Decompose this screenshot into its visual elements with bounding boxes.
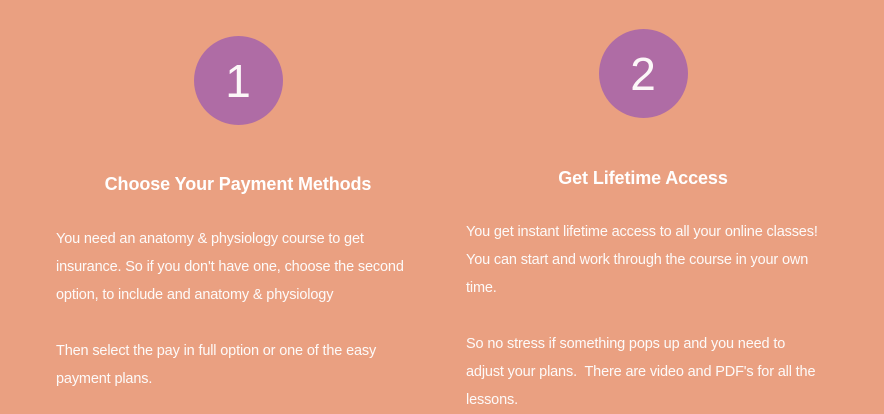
step-1-number-label: 1 (194, 58, 283, 104)
step-2-badge-wrap: 2 (466, 29, 820, 118)
step-1-paragraph-1: You need an anatomy & physiology course … (56, 225, 420, 309)
step-1-badge-wrap: 1 (56, 36, 420, 125)
step-2-heading: Get Lifetime Access (466, 118, 820, 190)
step-1-paragraph-2: Then select the pay in full option or on… (56, 337, 420, 393)
step-1-heading: Choose Your Payment Methods (56, 125, 420, 196)
step-2-paragraph-2: So no stress if something pops up and yo… (466, 330, 820, 414)
step-1-number-badge: 1 (194, 36, 283, 125)
step-2-number-badge: 2 (599, 29, 688, 118)
step-2-paragraph-1: You get instant lifetime access to all y… (466, 218, 820, 302)
steps-section: 1 Choose Your Payment Methods You need a… (0, 0, 884, 414)
step-column-1: 1 Choose Your Payment Methods You need a… (56, 0, 420, 393)
step-1-body: You need an anatomy & physiology course … (56, 196, 420, 393)
step-2-body: You get instant lifetime access to all y… (466, 190, 820, 414)
step-2-number-label: 2 (599, 51, 688, 97)
step-column-2: 2 Get Lifetime Access You get instant li… (466, 0, 820, 414)
